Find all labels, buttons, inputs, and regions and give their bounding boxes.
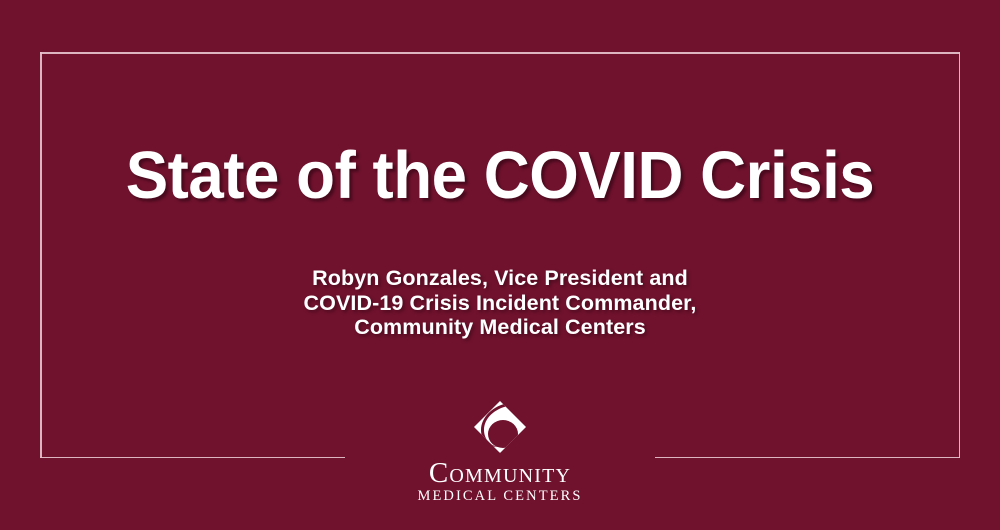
subtitle-line-3: Community Medical Centers [0, 315, 1000, 340]
title-slide: State of the COVID Crisis Robyn Gonzales… [0, 0, 1000, 530]
title-container: State of the COVID Crisis [0, 140, 1000, 211]
frame-border-left [40, 52, 42, 458]
logo-block: Community MEDICAL CENTERS [0, 400, 1000, 505]
subtitle-line-2: COVID-19 Crisis Incident Commander, [0, 291, 1000, 316]
frame-border-right [959, 52, 961, 458]
page-title: State of the COVID Crisis [126, 140, 875, 211]
frame-border-top [40, 52, 960, 54]
subtitle-line-1: Robyn Gonzales, Vice President and [0, 266, 1000, 291]
community-medical-centers-logo-icon [469, 400, 531, 456]
logo-wordmark-secondary: MEDICAL CENTERS [0, 488, 1000, 505]
logo-wordmark-primary: Community [0, 458, 1000, 488]
subtitle-container: Robyn Gonzales, Vice President and COVID… [0, 266, 1000, 340]
